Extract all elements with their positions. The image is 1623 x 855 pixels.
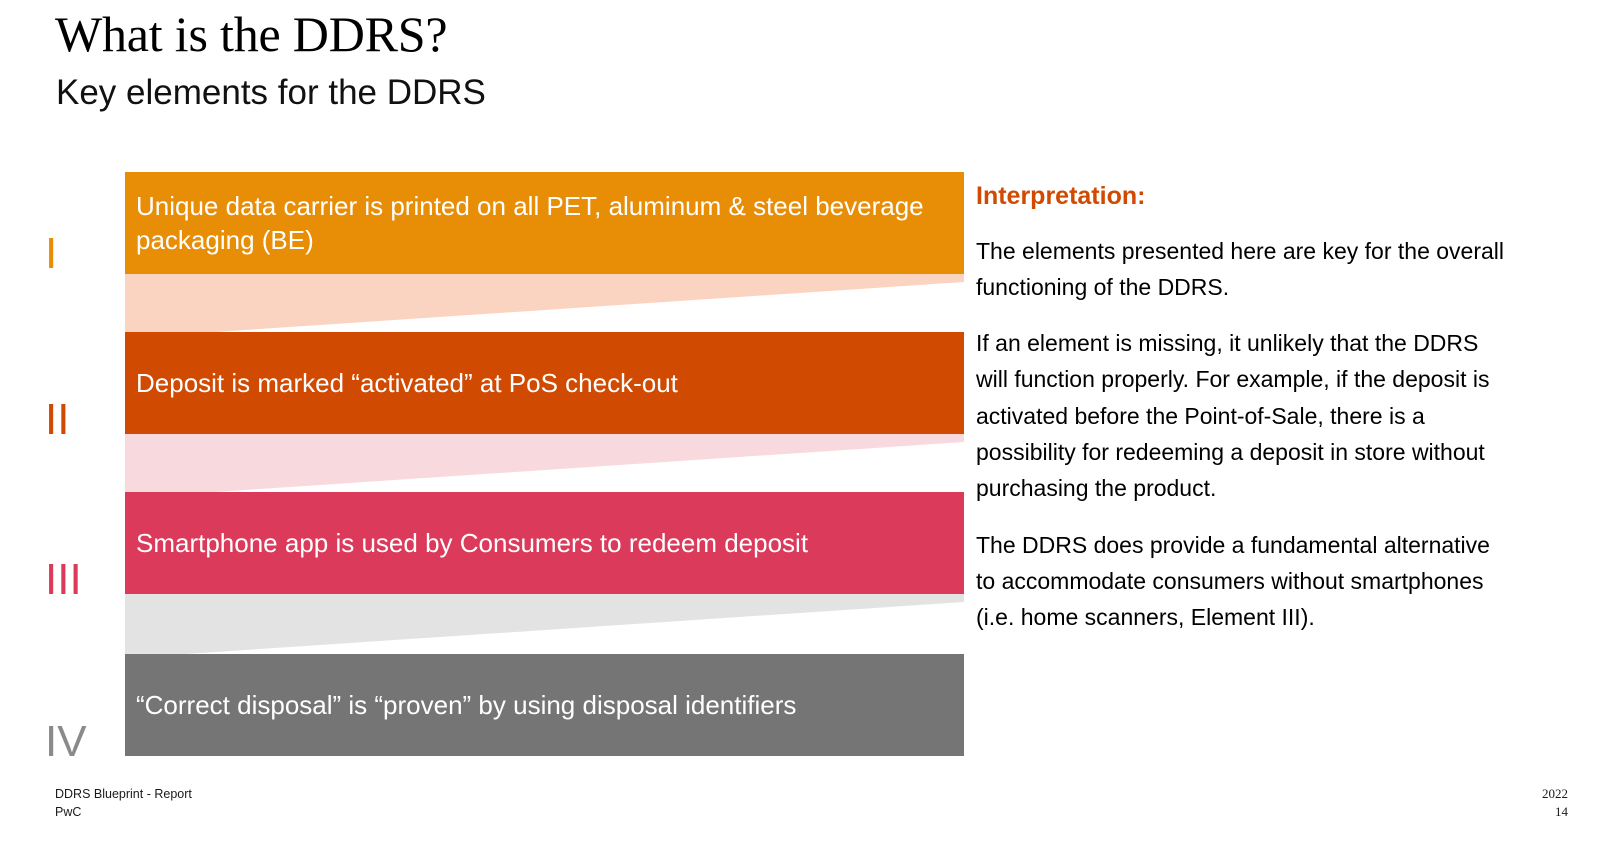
stage-bar-label-2: Deposit is marked “activated” at PoS che…	[136, 366, 678, 400]
stage-connector-2	[125, 434, 964, 494]
key-elements-funnel: I Unique data carrier is printed on all …	[0, 160, 970, 780]
footer-year: 2022	[1542, 785, 1568, 803]
footer-right: 2022 14	[1542, 785, 1568, 821]
stage-bar-4: “Correct disposal” is “proven” by using …	[125, 654, 964, 756]
stage-bar-label-4: “Correct disposal” is “proven” by using …	[136, 688, 796, 722]
stage-numeral-3: III	[45, 558, 115, 602]
interpretation-panel: Interpretation: The elements presented h…	[976, 183, 1506, 636]
footer-document-name: DDRS Blueprint - Report	[55, 785, 192, 803]
footer-left: DDRS Blueprint - Report PwC	[55, 785, 192, 821]
stage-numeral-1: I	[45, 232, 115, 276]
stage-bar-3: Smartphone app is used by Consumers to r…	[125, 492, 964, 594]
stage-numeral-2: II	[45, 398, 115, 442]
interpretation-paragraph-1: The elements presented here are key for …	[976, 233, 1506, 306]
page-title: What is the DDRS?	[55, 8, 447, 61]
stage-bar-label-1: Unique data carrier is printed on all PE…	[136, 189, 938, 258]
stage-bar-label-3: Smartphone app is used by Consumers to r…	[136, 526, 808, 560]
interpretation-heading: Interpretation:	[976, 183, 1506, 211]
stage-connector-1	[125, 274, 964, 334]
page-subtitle: Key elements for the DDRS	[56, 74, 486, 113]
stage-bar-2: Deposit is marked “activated” at PoS che…	[125, 332, 964, 434]
interpretation-paragraph-2: If an element is missing, it unlikely th…	[976, 325, 1506, 507]
stage-connector-3	[125, 594, 964, 654]
footer-organization: PwC	[55, 803, 192, 821]
stage-bar-1: Unique data carrier is printed on all PE…	[125, 172, 964, 274]
interpretation-paragraph-3: The DDRS does provide a fundamental alte…	[976, 527, 1506, 636]
footer-page-number: 14	[1542, 803, 1568, 821]
stage-numeral-4: IV	[45, 720, 115, 764]
